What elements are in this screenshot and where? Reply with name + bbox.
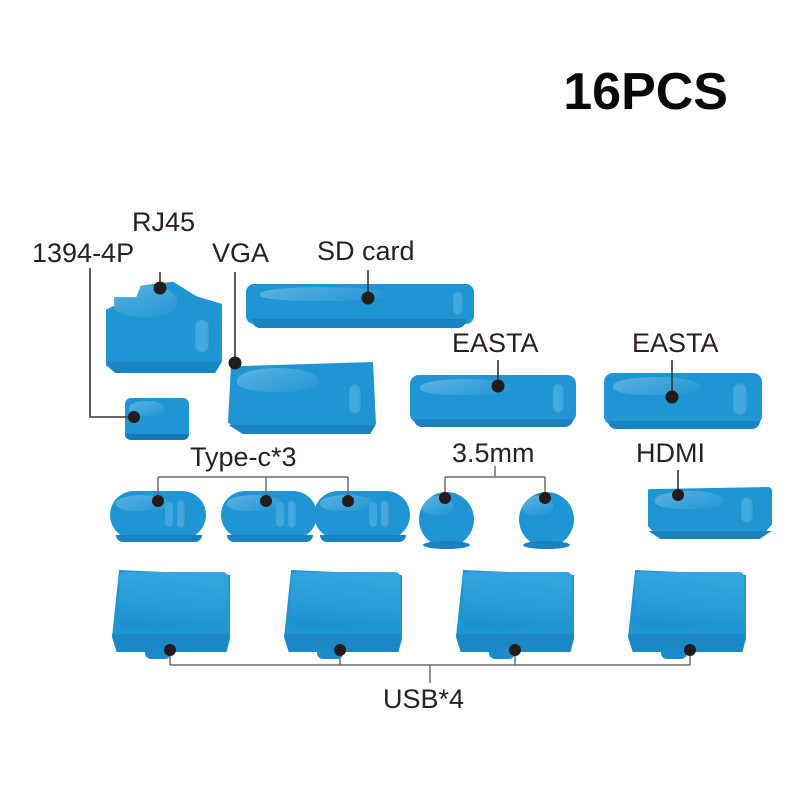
plug-body — [519, 492, 574, 547]
piece-count-title: 16PCS — [563, 66, 728, 118]
label-typec: Type-c*3 — [190, 444, 297, 471]
plug-top-face — [635, 572, 744, 628]
plug-ridge-secondary — [165, 502, 173, 527]
plug-top-face — [291, 572, 400, 628]
plug-ridge — [349, 384, 362, 414]
plug-usb-4 — [628, 570, 746, 652]
plug-shadow — [228, 425, 376, 434]
plug-shadow — [320, 535, 406, 542]
label-1394-4p: 1394-4P — [32, 240, 134, 267]
plug-body — [110, 491, 206, 539]
plug-1394-4p — [125, 398, 189, 440]
plug-shadow — [116, 535, 202, 542]
plug-vga — [228, 362, 376, 434]
plug-typec-1 — [110, 491, 206, 539]
plug-ridge — [195, 319, 210, 353]
label-vga: VGA — [212, 240, 269, 267]
plug-top-face — [119, 572, 228, 628]
plug-foot — [145, 649, 171, 659]
plug-body — [221, 491, 317, 539]
plug-shadow — [252, 319, 466, 328]
plug-ridge-secondary — [276, 502, 284, 527]
plug-ridge — [553, 383, 565, 413]
label-3-5mm: 3.5mm — [452, 440, 535, 467]
plug-easta-left — [410, 375, 576, 423]
plug-shadow — [414, 419, 573, 427]
plug-shadow — [227, 535, 313, 542]
product-image: 16PCS — [0, 0, 800, 800]
plug-top-face — [463, 572, 572, 628]
plug-shadow — [125, 434, 189, 440]
plug-ridge — [733, 383, 748, 415]
plug-usb-3 — [456, 570, 574, 652]
plug-ridge — [177, 500, 186, 528]
plug-hdmi — [648, 487, 772, 539]
plug-ridge — [381, 500, 390, 528]
label-usb: USB*4 — [383, 686, 464, 713]
plug-ridge-secondary — [369, 502, 377, 527]
plug-audio-jack-1 — [419, 492, 474, 547]
plug-shadow — [523, 541, 570, 549]
plug-shadow — [106, 361, 222, 373]
label-rj45: RJ45 — [132, 209, 195, 236]
label-hdmi: HDMI — [636, 440, 705, 467]
plug-usb-2 — [284, 570, 402, 652]
plug-foot — [489, 649, 515, 659]
label-easta-right: EASTA — [632, 330, 719, 357]
plug-body — [246, 284, 474, 324]
plug-sd-card — [246, 284, 474, 324]
plug-shadow — [423, 541, 470, 549]
plug-ridge — [741, 497, 754, 523]
plug-audio-jack-2 — [519, 492, 574, 547]
plug-body — [314, 491, 410, 539]
plug-ridge — [453, 291, 464, 315]
plug-body — [419, 492, 474, 547]
label-sd-card: SD card — [317, 238, 415, 265]
plug-typec-2 — [221, 491, 317, 539]
plug-easta-right — [604, 373, 762, 425]
label-easta-left: EASTA — [452, 330, 539, 357]
plug-rj45 — [106, 277, 222, 373]
plug-body — [410, 375, 576, 423]
plug-usb-1 — [112, 570, 230, 652]
plug-foot — [317, 649, 343, 659]
plug-foot — [661, 649, 687, 659]
plug-shadow — [608, 421, 760, 429]
plug-ridge — [288, 500, 297, 528]
plug-typec-3 — [314, 491, 410, 539]
plug-shadow — [648, 531, 772, 539]
